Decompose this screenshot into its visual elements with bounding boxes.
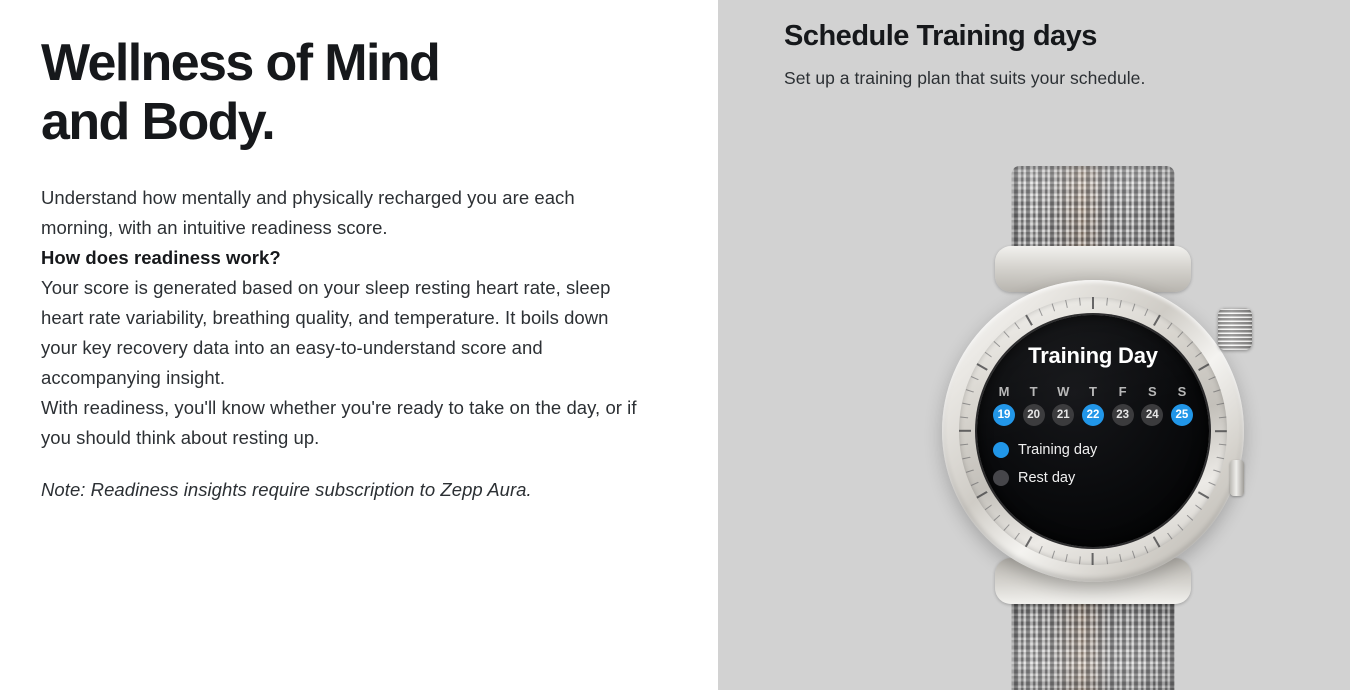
training-schedule-panel: Schedule Training days Set up a training… <box>718 0 1350 690</box>
legend-label: Rest day <box>1018 470 1075 486</box>
intro-paragraph: Understand how mentally and physically r… <box>41 183 641 243</box>
watch-strap-bottom <box>1012 594 1175 690</box>
readiness-copy: Understand how mentally and physically r… <box>41 183 641 505</box>
legend-dot-training-icon <box>993 442 1009 458</box>
weekday-letter: T <box>1023 384 1045 399</box>
day-chip-training[interactable]: 22 <box>1082 404 1104 426</box>
day-chip-rest[interactable]: 24 <box>1141 404 1163 426</box>
readiness-info-panel: Wellness of Mind and Body. Understand ho… <box>0 0 718 690</box>
readiness-subheading: How does readiness work? <box>41 243 641 273</box>
schedule-legend: Training dayRest day <box>993 442 1097 498</box>
watch-screen-title: Training Day <box>977 343 1209 369</box>
weekday-letter: M <box>993 384 1015 399</box>
training-panel-title: Schedule Training days <box>784 18 1350 56</box>
legend-row: Training day <box>993 442 1097 458</box>
readiness-usage-paragraph: With readiness, you'll know whether you'… <box>41 393 641 453</box>
day-chip-row: 19202122232425 <box>993 404 1193 426</box>
weekday-header-row: MTWTFSS <box>993 384 1193 399</box>
weekday-letter: T <box>1082 384 1104 399</box>
weekday-letter: S <box>1141 384 1163 399</box>
day-chip-training[interactable]: 19 <box>993 404 1015 426</box>
watch-display[interactable]: Training Day MTWTFSS 19202122232425 Trai… <box>977 315 1209 547</box>
day-chip-rest[interactable]: 21 <box>1052 404 1074 426</box>
page-title: Wellness of Mind and Body. <box>41 34 601 153</box>
page-title-line-2: and Body. <box>41 93 601 152</box>
readiness-explanation-paragraph: Your score is generated based on your sl… <box>41 273 641 393</box>
legend-row: Rest day <box>993 470 1097 486</box>
subscription-note: Note: Readiness insights require subscri… <box>41 475 641 505</box>
page-title-line-1: Wellness of Mind <box>41 34 601 93</box>
training-panel-subtitle: Set up a training plan that suits your s… <box>784 68 1350 89</box>
weekday-letter: F <box>1112 384 1134 399</box>
day-chip-training[interactable]: 25 <box>1171 404 1193 426</box>
watch-crown[interactable] <box>1218 308 1252 350</box>
product-feature-page: Wellness of Mind and Body. Understand ho… <box>0 0 1350 690</box>
weekday-letter: S <box>1171 384 1193 399</box>
day-chip-rest[interactable]: 20 <box>1023 404 1045 426</box>
weekday-letter: W <box>1052 384 1074 399</box>
legend-dot-rest-icon <box>993 470 1009 486</box>
watch-case: Training Day MTWTFSS 19202122232425 Trai… <box>942 280 1244 582</box>
day-chip-rest[interactable]: 23 <box>1112 404 1134 426</box>
legend-label: Training day <box>1018 442 1097 458</box>
smartwatch-image: Training Day MTWTFSS 19202122232425 Trai… <box>928 160 1258 690</box>
watch-side-button[interactable] <box>1230 460 1244 496</box>
